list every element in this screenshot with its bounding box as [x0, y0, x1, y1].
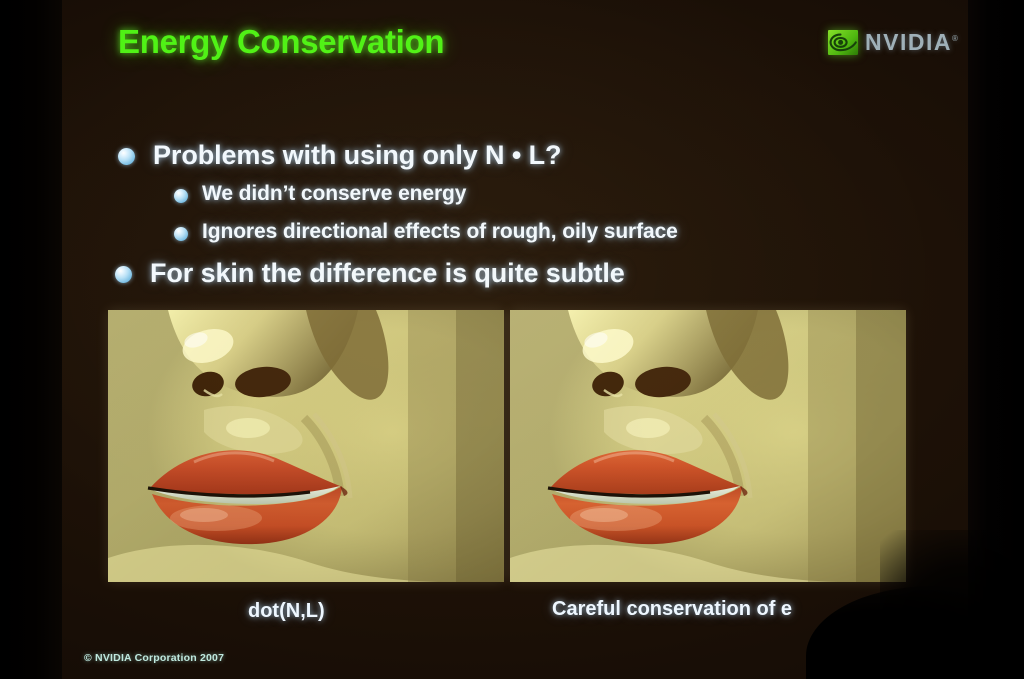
- bullet-sphere-icon: [118, 148, 135, 165]
- bullet-sphere-icon: [115, 266, 132, 283]
- nvidia-logo: NVIDIA®: [828, 30, 958, 55]
- figure-image-energy-conserving: [510, 310, 906, 582]
- slide-title: Energy Conservation: [118, 23, 444, 61]
- bullet-sphere-icon: [174, 227, 188, 241]
- room-wall-left: [0, 0, 64, 679]
- nvidia-eye-icon: [828, 30, 858, 55]
- face-render-right: [510, 310, 906, 582]
- projected-slide-photo: Energy Conservation NVIDIA® Problems wit…: [0, 0, 1024, 679]
- bullet-label: Problems with using only N • L?: [153, 140, 561, 171]
- copyright-footer: © NVIDIA Corporation 2007: [84, 652, 224, 664]
- bullet-label: Ignores directional effects of rough, oi…: [202, 220, 678, 244]
- figure-image-dot-nl: [108, 310, 504, 582]
- face-render-left: [108, 310, 504, 582]
- figure-caption-left: dot(N,L): [248, 600, 325, 623]
- bullet-item-3: Ignores directional effects of rough, oi…: [174, 220, 678, 244]
- nvidia-wordmark: NVIDIA®: [865, 31, 958, 54]
- bullet-label: We didn’t conserve energy: [202, 182, 466, 206]
- slide-surface: Energy Conservation NVIDIA® Problems wit…: [62, 0, 968, 679]
- bullet-sphere-icon: [174, 189, 188, 203]
- room-wall-right: [964, 0, 1024, 679]
- figure-caption-right: Careful conservation of e: [552, 598, 792, 621]
- bullet-label: For skin the difference is quite subtle: [150, 258, 625, 289]
- bullet-item-1: Problems with using only N • L?: [118, 140, 561, 171]
- bullet-item-2: We didn’t conserve energy: [174, 182, 466, 206]
- bullet-item-4: For skin the difference is quite subtle: [115, 258, 625, 289]
